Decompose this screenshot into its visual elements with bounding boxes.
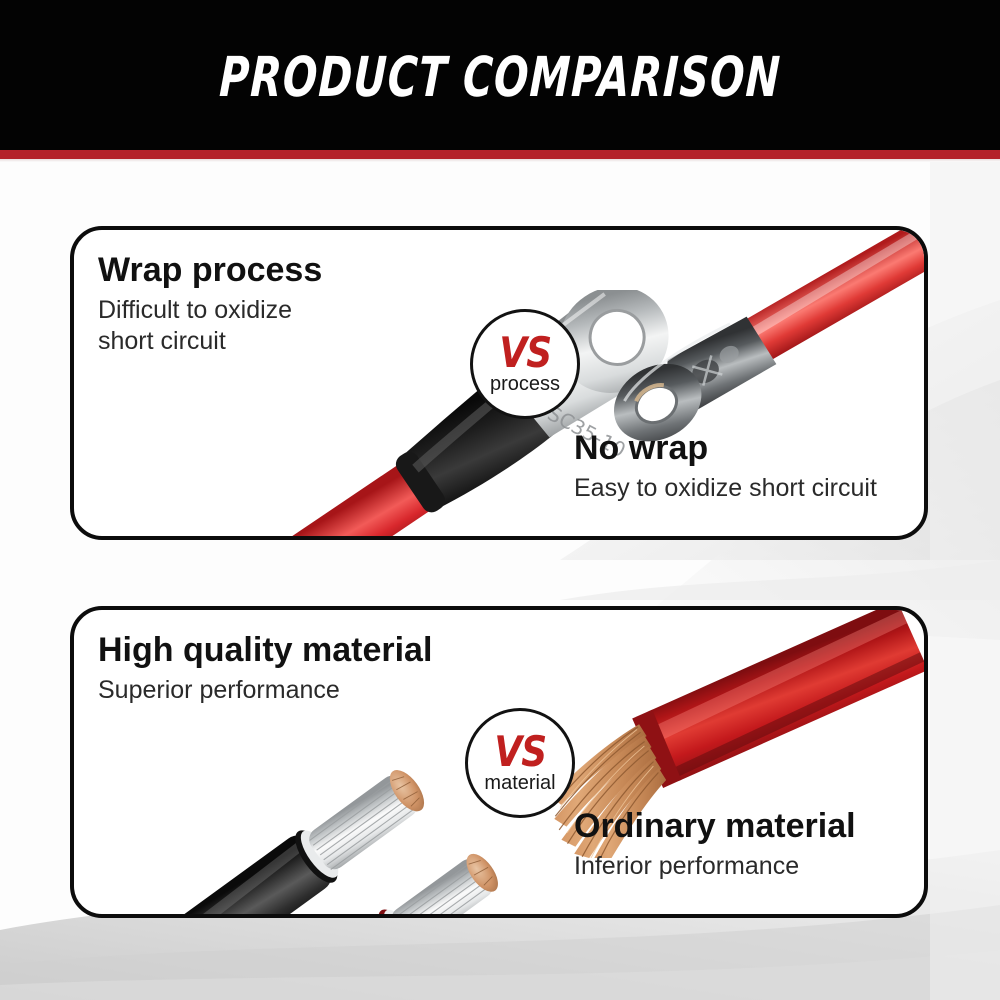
header-banner: PRODUCT COMPARISON xyxy=(0,0,1000,150)
material-bad-text: Ordinary material Inferior performance xyxy=(574,808,856,882)
product-comparison-infographic: PRODUCT COMPARISON xyxy=(0,0,1000,1000)
subline-no-wrap: Easy to oxidize short circuit xyxy=(574,473,877,504)
page-title: PRODUCT COMPARISON xyxy=(218,46,782,105)
bare-lug-terminal-image xyxy=(594,226,928,442)
headline-no-wrap: No wrap xyxy=(574,430,877,467)
vs-badge-material: VS material xyxy=(465,708,575,818)
vs-category-process: process xyxy=(490,374,560,394)
vs-category-material: material xyxy=(484,773,555,793)
subline-wrap-process: Difficult to oxidize short circuit xyxy=(98,295,322,356)
vs-label-text: VS xyxy=(499,334,551,373)
vs-label-text: VS xyxy=(494,733,546,772)
headline-high-quality-material: High quality material xyxy=(98,632,432,669)
header-accent-stripe xyxy=(0,150,1000,159)
headline-ordinary-material: Ordinary material xyxy=(574,808,856,845)
vs-badge-process: VS process xyxy=(470,309,580,419)
material-good-text: High quality material Superior performan… xyxy=(98,632,432,706)
subline-ordinary-material: Inferior performance xyxy=(574,851,856,882)
wrap-process-good-text: Wrap process Difficult to oxidize short … xyxy=(98,252,322,356)
headline-wrap-process: Wrap process xyxy=(98,252,322,289)
wrap-process-bad-text: No wrap Easy to oxidize short circuit xyxy=(574,430,877,504)
header-stripe-shadow xyxy=(0,159,1000,162)
subline-high-quality-material: Superior performance xyxy=(98,675,432,706)
